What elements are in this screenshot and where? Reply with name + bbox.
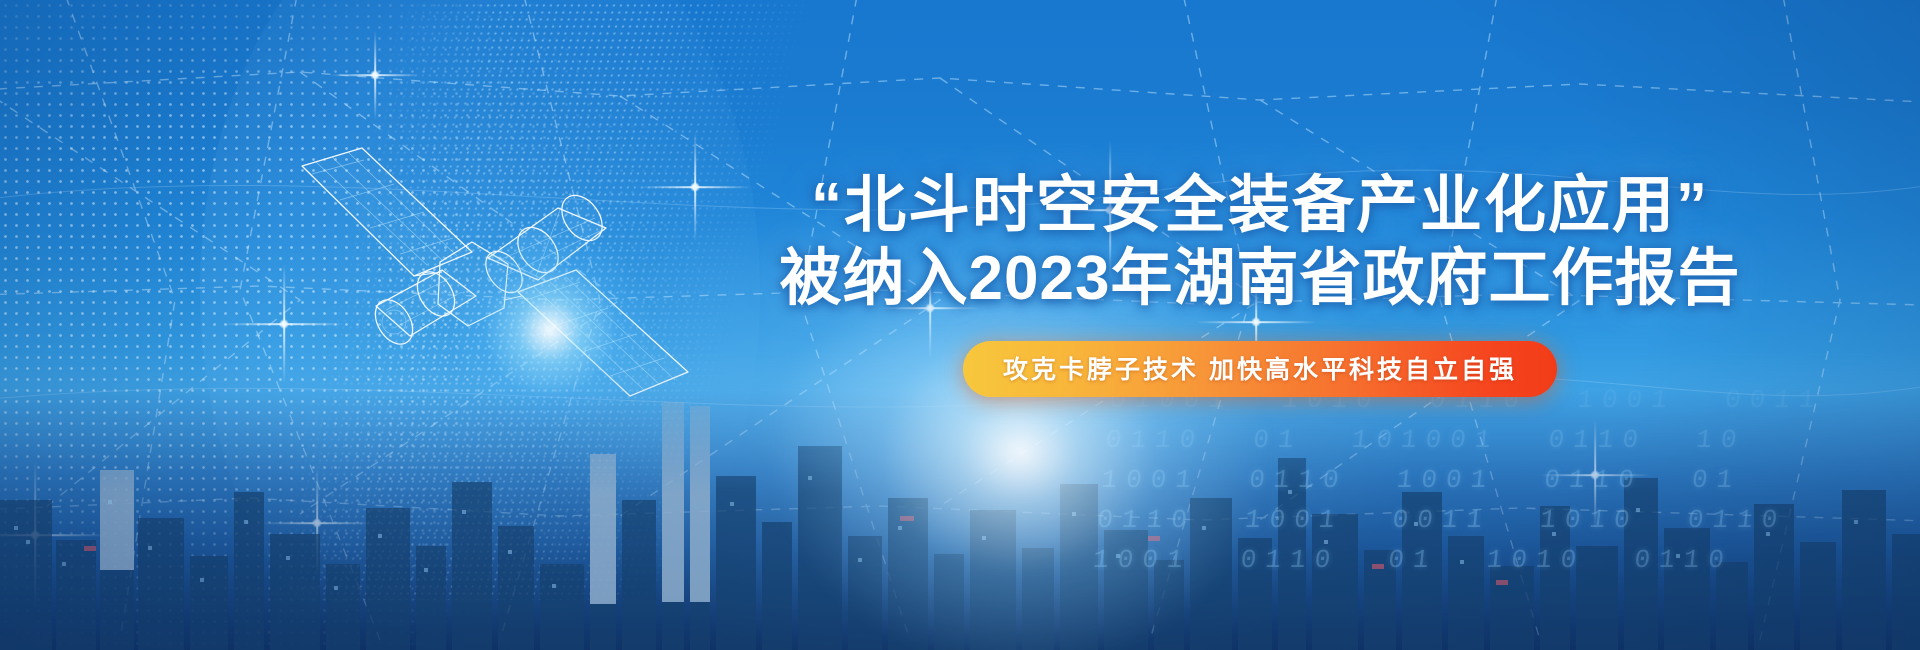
hero-banner: 01001 1010 0110 1001 0011 0110 01 101001…: [0, 0, 1920, 650]
slogan-row: 攻克卡脖子技术 加快高水平科技自立自强: [760, 341, 1760, 397]
banner-content: “北斗时空安全装备产业化应用” 被纳入2023年湖南省政府工作报告 攻克卡脖子技…: [760, 170, 1760, 397]
headline-line-2: 被纳入2023年湖南省政府工作报告: [760, 243, 1760, 316]
page-title: “北斗时空安全装备产业化应用” 被纳入2023年湖南省政府工作报告: [760, 170, 1760, 315]
slogan-badge[interactable]: 攻克卡脖子技术 加快高水平科技自立自强: [963, 341, 1557, 397]
headline-line-1: “北斗时空安全装备产业化应用”: [760, 170, 1760, 243]
